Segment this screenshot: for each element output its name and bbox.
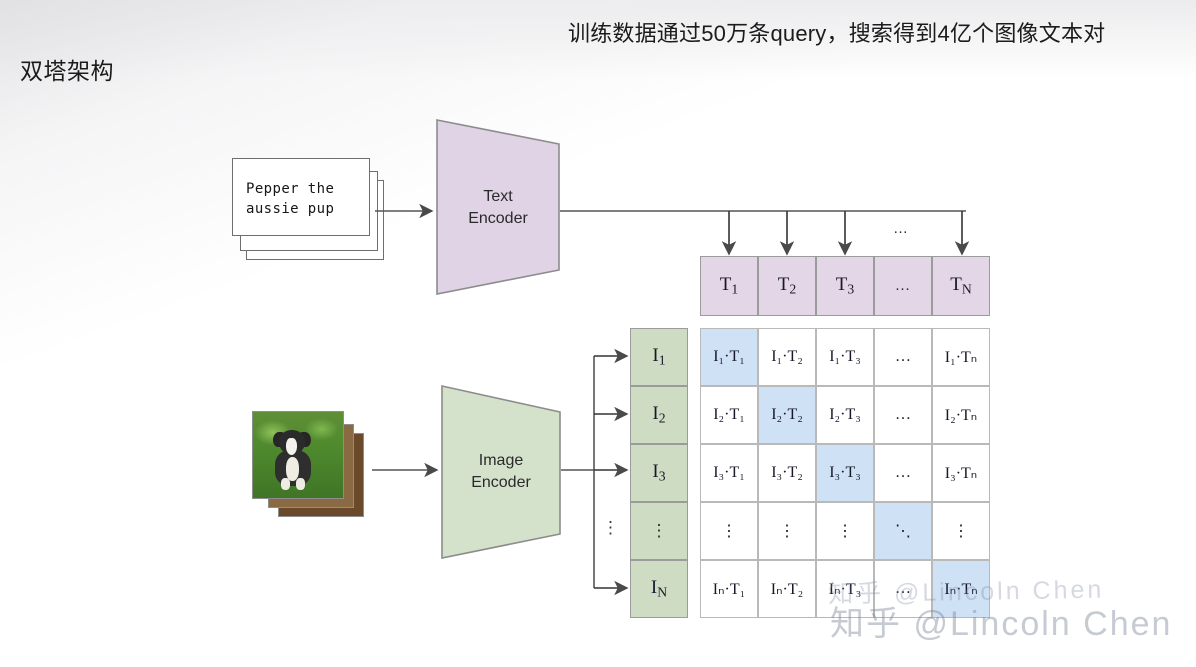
puppy-face: [286, 438, 297, 455]
image-input-stack: [252, 411, 372, 523]
puppy-chest: [286, 457, 299, 481]
image-token-cell-3: I3: [630, 444, 688, 502]
text-token-bus-ellipsis: …: [893, 220, 909, 237]
text-input-card-stack: Pepper the aussie pup: [232, 158, 397, 263]
text-token-cell-4: …: [874, 256, 932, 316]
matrix-cell-r5-c2: Iₙ·T₂: [758, 560, 816, 618]
matrix-cell-r4-c1: ⋮: [700, 502, 758, 560]
background-gradient: [0, 0, 1196, 667]
image-bus-ellipsis: ⋮: [602, 518, 619, 538]
matrix-cell-r1-c2: I₁·T₂: [758, 328, 816, 386]
text-token-cell-2: T2: [758, 256, 816, 316]
image-encoder-label: Image Encoder: [440, 450, 562, 493]
matrix-cell-r4-c5: ⋮: [932, 502, 990, 560]
matrix-cell-r3-c5: I₃·Tₙ: [932, 444, 990, 502]
text-token-cell-1: T1: [700, 256, 758, 316]
matrix-cell-r5-c1: Iₙ·T₁: [700, 560, 758, 618]
slide-caption: 训练数据通过50万条query，搜索得到4亿个图像文本对: [568, 16, 1105, 48]
matrix-cell-r2-c3: I₂·T₃: [816, 386, 874, 444]
matrix-cell-r4-c3: ⋮: [816, 502, 874, 560]
matrix-cell-r1-c3: I₁·T₃: [816, 328, 874, 386]
matrix-cell-r3-c1: I₃·T₁: [700, 444, 758, 502]
watermark-primary: 知乎 @Lincoln Chen: [830, 596, 1172, 645]
connector-wires: [0, 0, 1196, 667]
matrix-cell-r3-c4: …: [874, 444, 932, 502]
matrix-cell-r4-c2: ⋮: [758, 502, 816, 560]
puppy-paw-right: [296, 478, 305, 490]
text-input-caption: Pepper the aussie pup: [233, 159, 369, 220]
matrix-cell-r3-c3: I₃·T₃: [816, 444, 874, 502]
image-encoder-block: Image Encoder: [440, 384, 562, 560]
matrix-cell-r1-c5: I₁·Tₙ: [932, 328, 990, 386]
text-encoder-label: Text Encoder: [435, 186, 561, 229]
matrix-cell-r4-c4: ⋱: [874, 502, 932, 560]
text-card-front: Pepper the aussie pup: [232, 158, 370, 236]
image-token-cell-4: ⋮: [630, 502, 688, 560]
image-token-cell-2: I2: [630, 386, 688, 444]
matrix-cell-r2-c5: I₂·Tₙ: [932, 386, 990, 444]
puppy-paw-left: [281, 478, 290, 490]
matrix-cell-r3-c2: I₃·T₂: [758, 444, 816, 502]
text-token-cell-5: TN: [932, 256, 990, 316]
text-token-cell-3: T3: [816, 256, 874, 316]
image-token-cell-5: IN: [630, 560, 688, 618]
matrix-cell-r2-c2: I₂·T₂: [758, 386, 816, 444]
text-encoder-block: Text Encoder: [435, 118, 561, 296]
image-token-cell-1: I1: [630, 328, 688, 386]
matrix-cell-r1-c1: I₁·T₁: [700, 328, 758, 386]
matrix-cell-r1-c4: …: [874, 328, 932, 386]
image-layer-front-puppy-photo: [252, 411, 344, 499]
matrix-cell-r2-c1: I₂·T₁: [700, 386, 758, 444]
matrix-cell-r2-c4: …: [874, 386, 932, 444]
page-title: 双塔架构: [20, 52, 114, 86]
